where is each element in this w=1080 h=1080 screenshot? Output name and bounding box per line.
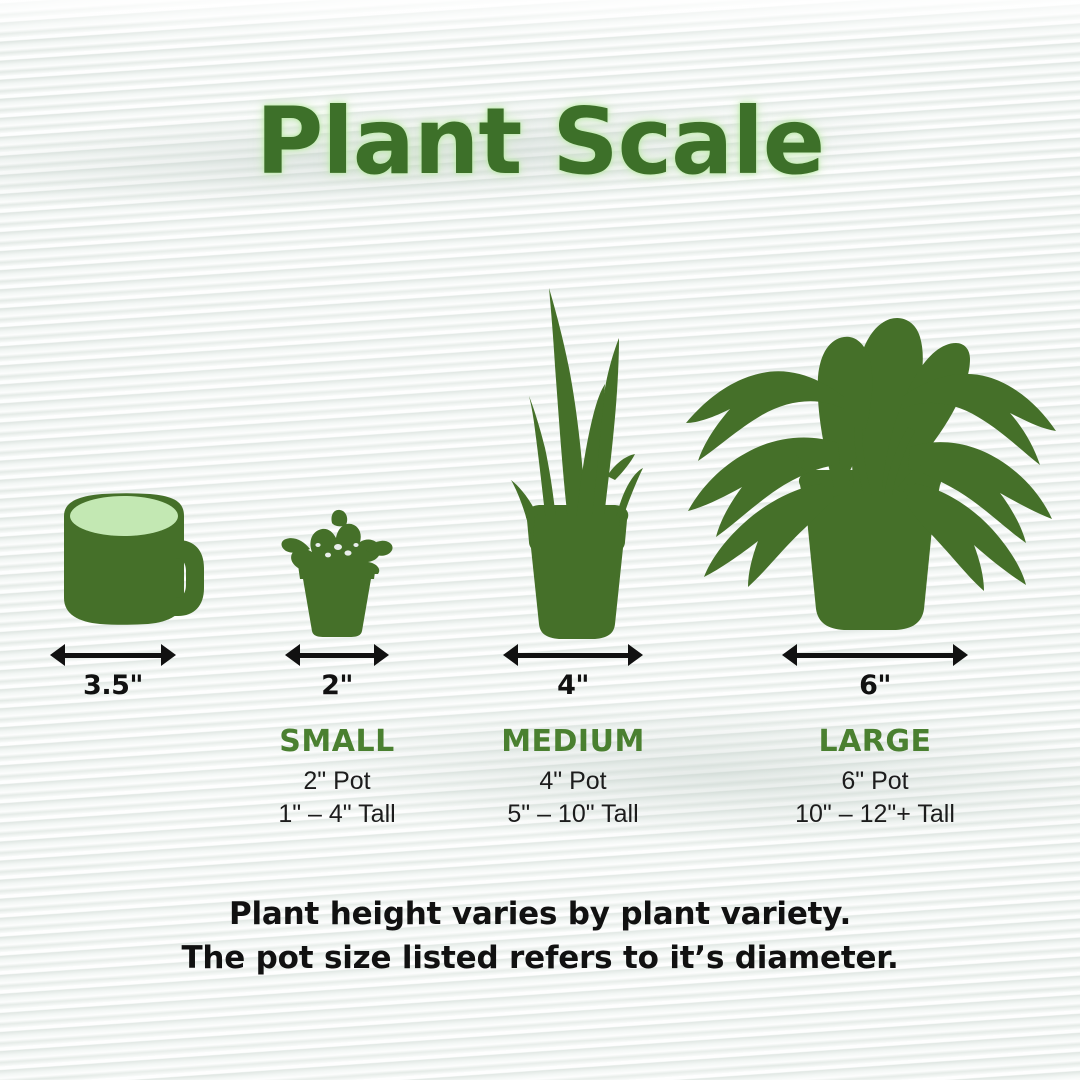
size-caption-small: SMALL 2" Pot 1" – 4" Tall <box>232 724 442 831</box>
arrow-line <box>59 653 167 658</box>
measure-label-medium: 4" <box>503 670 643 701</box>
arrow-line <box>294 653 380 658</box>
small-potted-plant-icon <box>278 507 396 637</box>
size-title-medium: MEDIUM <box>468 724 678 759</box>
size-caption-medium: MEDIUM 4" Pot 5" – 10" Tall <box>468 724 678 831</box>
arrow-head-right-icon <box>374 644 389 666</box>
coffee-mug-icon <box>58 488 208 628</box>
arrow-double-headed <box>782 644 968 666</box>
arrow-double-headed <box>50 644 176 666</box>
arrow-double-headed <box>285 644 389 666</box>
size-title-small: SMALL <box>232 724 442 759</box>
measure-large-pot: 6" <box>782 644 968 701</box>
arrow-line <box>791 653 959 658</box>
size-title-large: LARGE <box>770 724 980 759</box>
arrow-head-right-icon <box>161 644 176 666</box>
measure-small-pot: 2" <box>285 644 389 701</box>
measure-label-large: 6" <box>782 670 968 701</box>
footnote-line-1: Plant height varies by plant variety. <box>0 892 1080 936</box>
size-height-small: 1" – 4" Tall <box>232 798 442 831</box>
footnote: Plant height varies by plant variety. Th… <box>0 892 1080 980</box>
large-leafy-plant-icon <box>658 257 1068 642</box>
footnote-line-2: The pot size listed refers to it’s diame… <box>0 936 1080 980</box>
measure-label-small: 2" <box>285 670 389 701</box>
size-pot-medium: 4" Pot <box>468 765 678 798</box>
size-height-large: 10" – 12"+ Tall <box>770 798 980 831</box>
measure-label-mug: 3.5" <box>50 670 176 701</box>
arrow-head-right-icon <box>628 644 643 666</box>
arrow-head-right-icon <box>953 644 968 666</box>
arrow-line <box>512 653 634 658</box>
size-pot-small: 2" Pot <box>232 765 442 798</box>
size-caption-large: LARGE 6" Pot 10" – 12"+ Tall <box>770 724 980 831</box>
arrow-double-headed <box>503 644 643 666</box>
size-height-medium: 5" – 10" Tall <box>468 798 678 831</box>
size-pot-large: 6" Pot <box>770 765 980 798</box>
snake-plant-icon <box>497 280 657 642</box>
measure-mug: 3.5" <box>50 644 176 701</box>
measure-medium-pot: 4" <box>503 644 643 701</box>
